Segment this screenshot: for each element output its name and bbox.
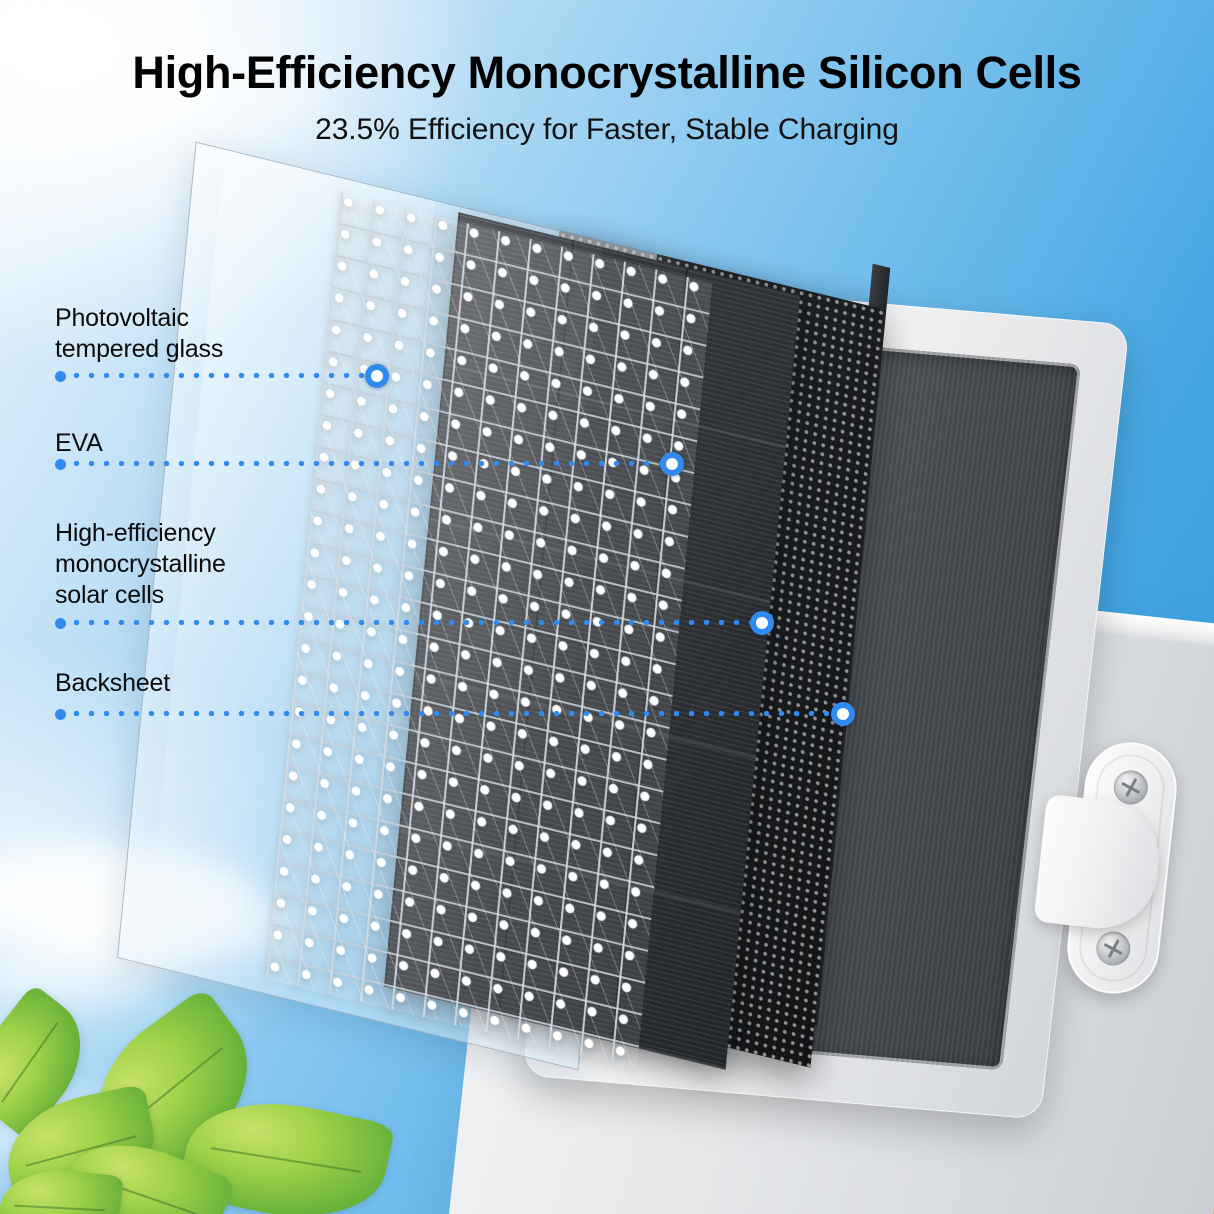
leader-dots	[69, 373, 371, 378]
callout-label: Backsheet	[55, 668, 170, 699]
header-block: High-Efficiency Monocrystalline Silicon …	[0, 48, 1214, 147]
layer-eva	[266, 193, 713, 1070]
leaf-vein	[1, 1022, 58, 1103]
screw-icon	[1112, 769, 1149, 806]
leader-line-solar-cells	[55, 618, 774, 627]
leader-start-dot	[55, 618, 66, 629]
leader-dots	[69, 711, 837, 716]
screw-icon	[1095, 930, 1132, 967]
leader-end-marker	[365, 364, 389, 388]
leader-line-photovoltaic-tempered-glass	[55, 371, 389, 380]
leader-start-dot	[55, 459, 66, 470]
leader-end-marker	[750, 611, 774, 635]
callout-eva: EVA	[55, 428, 103, 459]
leaf-vein	[211, 1147, 361, 1173]
leader-dots	[69, 461, 666, 466]
callout-backsheet: Backsheet	[55, 668, 170, 699]
leader-start-dot	[55, 709, 66, 720]
leader-start-dot	[55, 371, 66, 382]
leader-end-marker	[831, 702, 855, 726]
leader-line-backsheet	[55, 709, 855, 718]
callout-label: High-efficiency monocrystalline solar ce…	[55, 518, 226, 611]
leader-end-marker	[660, 452, 684, 476]
callout-label: EVA	[55, 428, 103, 459]
callout-label: Photovoltaic tempered glass	[55, 303, 223, 365]
page-subtitle: 23.5% Efficiency for Faster, Stable Char…	[0, 113, 1214, 147]
leader-line-eva	[55, 459, 684, 468]
callout-photovoltaic-tempered-glass: Photovoltaic tempered glass	[55, 303, 223, 365]
callout-high-efficiency-monocrystalline-solar-cells: High-efficiency monocrystalline solar ce…	[55, 518, 226, 611]
leader-dots	[69, 620, 756, 625]
infographic-canvas: High-Efficiency Monocrystalline Silicon …	[0, 0, 1214, 1214]
leaf-vein	[14, 1205, 105, 1212]
page-title: High-Efficiency Monocrystalline Silicon …	[0, 48, 1214, 98]
